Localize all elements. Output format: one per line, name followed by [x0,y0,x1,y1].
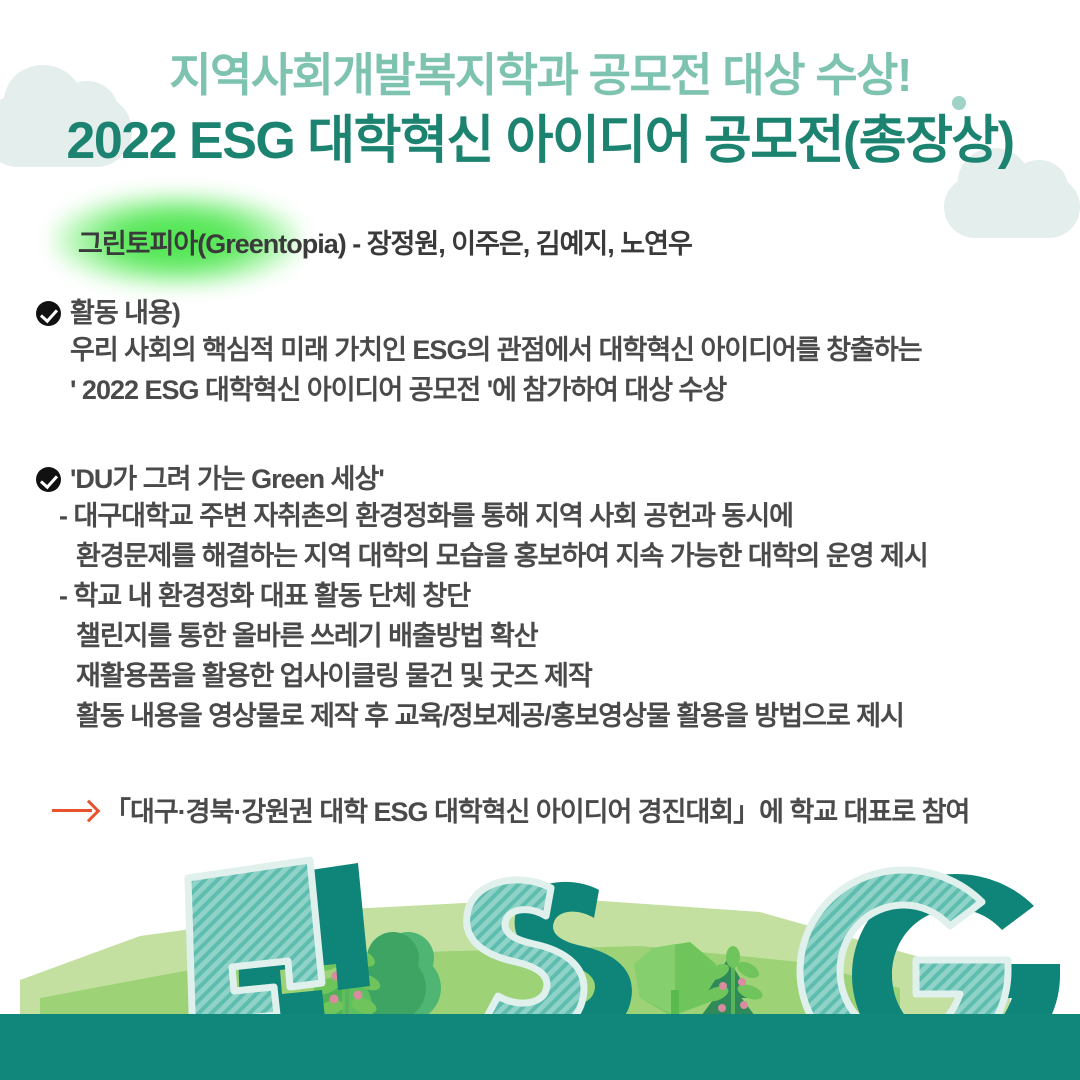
section-heading: 활동 내용) [70,296,180,330]
ground-band [0,1014,1080,1080]
page-title: 지역사회개발복지학과 공모전 대상 수상! 2022 ESG 대학혁신 아이디어… [0,44,1080,176]
body-line: 우리 사회의 핵심적 미래 가치인 ESG의 관점에서 대학혁신 아이디어를 창… [36,330,922,370]
right-arrow-icon [52,799,100,821]
conclusion-text: 「대구·경북·강원권 대학 ESG 대학혁신 아이디어 경진대회」에 학교 대표… [104,790,969,829]
check-circle-icon [36,467,61,492]
bullet-row: 활동 내용) [36,296,922,330]
body-line: 챌린지를 통한 올바른 쓰레기 배출방법 확산 [36,616,928,656]
section-heading: 'DU가 그려 가는 Green 세상' [70,462,384,496]
cloud-decoration-right [944,176,1080,238]
title-line-2: 2022 ESG 대학혁신 아이디어 공모전(총장상) [0,106,1080,176]
body-line: ' 2022 ESG 대학혁신 아이디어 공모전 '에 참가하여 대상 수상 [36,370,922,410]
body-line: - 학교 내 환경정화 대표 활동 단체 창단 [36,576,928,616]
body-line: 재활용품을 활용한 업사이클링 물건 및 굿즈 제작 [36,656,928,696]
body-line: - 대구대학교 주변 자취촌의 환경정화를 통해 지역 사회 공헌과 동시에 [36,496,928,536]
body-line: 환경문제를 해결하는 지역 대학의 모습을 홍보하여 지속 가능한 대학의 운영… [36,536,928,576]
conclusion-row: 「대구·경북·강원권 대학 ESG 대학혁신 아이디어 경진대회」에 학교 대표… [52,790,969,829]
body-line: 활동 내용을 영상물로 제작 후 교육/정보제공/홍보영상물 활용을 방법으로 … [36,696,928,736]
team-name-text: 그린토피아(Greentopia) - 장정원, 이주은, 김예지, 노연우 [78,229,692,259]
section-activity: 활동 내용) 우리 사회의 핵심적 미래 가치인 ESG의 관점에서 대학혁신 … [36,296,922,410]
section-du-green-world: 'DU가 그려 가는 Green 세상' - 대구대학교 주변 자취촌의 환경정… [36,462,928,736]
team-name-row: 그린토피아(Greentopia) - 장정원, 이주은, 김예지, 노연우 [78,222,692,261]
bullet-row: 'DU가 그려 가는 Green 세상' [36,462,928,496]
esg-illustration-svg [0,840,1080,1080]
check-circle-icon [36,301,61,326]
esg-illustration [0,840,1080,1080]
title-line-1: 지역사회개발복지학과 공모전 대상 수상! [0,44,1080,106]
